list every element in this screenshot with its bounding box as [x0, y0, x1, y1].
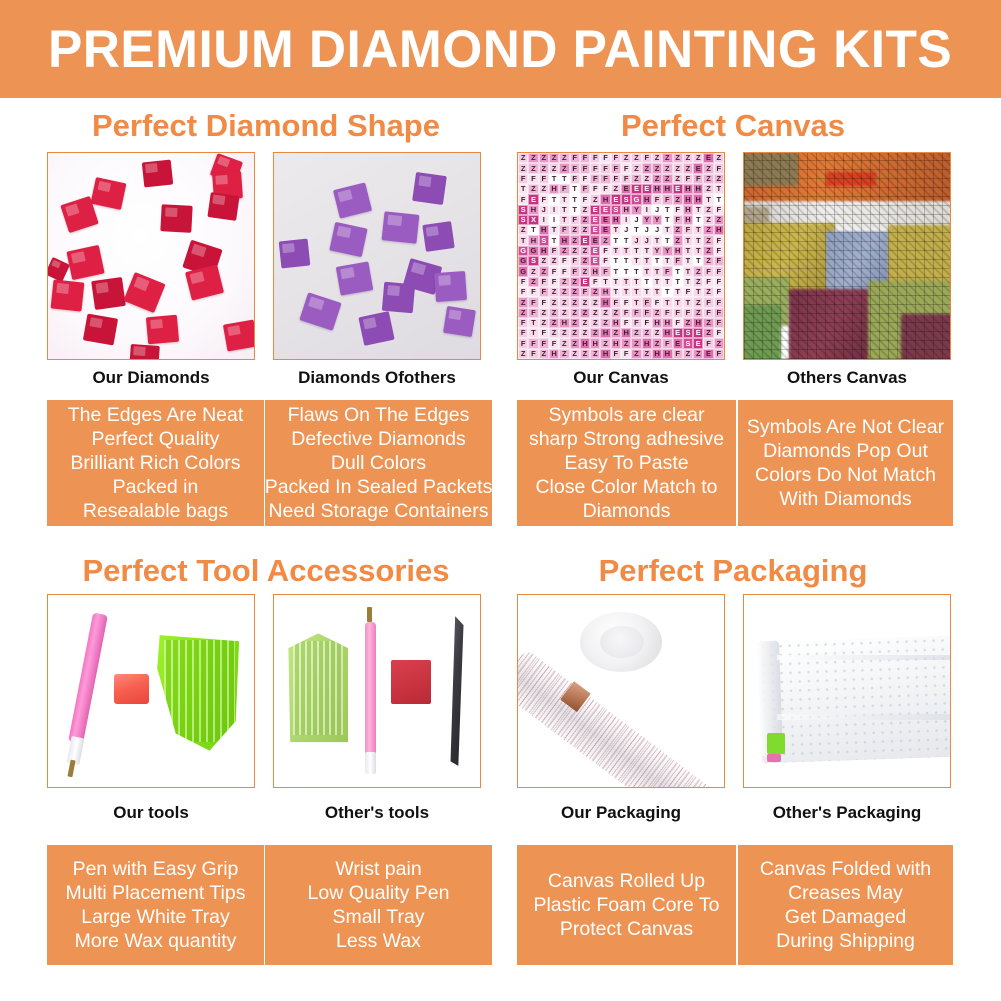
- canvas-symbol-cell: G: [631, 194, 641, 204]
- canvas-symbol-cell: Z: [528, 153, 538, 163]
- canvas-symbol-cell: Z: [528, 266, 538, 276]
- diamond-gem: [185, 265, 224, 301]
- canvas-symbol-cell: F: [528, 308, 538, 318]
- canvas-symbol-cell: Z: [570, 287, 580, 297]
- caption-others-tools: Other's tools: [273, 803, 481, 823]
- canvas-symbol-cell: F: [528, 297, 538, 307]
- canvas-symbol-cell: F: [570, 256, 580, 266]
- canvas-symbol-cell: T: [631, 266, 641, 276]
- canvas-symbol-cell: F: [714, 266, 724, 276]
- canvas-symbol-cell: Y: [631, 205, 641, 215]
- canvas-symbol-cell: T: [693, 215, 703, 225]
- canvas-symbol-cell: Z: [673, 235, 683, 245]
- canvas-symbol-cell: F: [549, 338, 559, 348]
- diamond-gem: [382, 281, 415, 312]
- canvas-symbol-cell: Z: [580, 205, 590, 215]
- canvas-symbol-cell: T: [559, 205, 569, 215]
- canvas-symbol-cell: Z: [580, 349, 590, 359]
- canvas-symbol-cell: Z: [590, 318, 600, 328]
- canvas-symbol-cell: F: [539, 297, 549, 307]
- textbox-our-tools: Pen with Easy Grip Multi Placement Tips …: [47, 845, 264, 965]
- caption-our-tools: Our tools: [47, 803, 255, 823]
- textbox-line: Packed in: [113, 475, 199, 499]
- canvas-symbol-cell: E: [693, 328, 703, 338]
- canvas-symbol-cell: F: [570, 163, 580, 173]
- textbox-others-packaging: Canvas Folded with Creases May Get Damag…: [738, 845, 953, 965]
- canvas-symbol-cell: H: [662, 184, 672, 194]
- caption-our-diamonds: Our Diamonds: [47, 368, 255, 388]
- textbox-line: Diamonds: [583, 499, 671, 523]
- canvas-symbol-cell: Z: [590, 308, 600, 318]
- canvas-symbol-cell: E: [673, 328, 683, 338]
- canvas-symbol-cell: Z: [683, 318, 693, 328]
- canvas-symbol-cell: E: [703, 153, 713, 163]
- canvas-symbol-cell: H: [652, 184, 662, 194]
- textbox-line: Packed In Sealed Packets: [265, 475, 493, 499]
- canvas-symbol-cell: T: [683, 266, 693, 276]
- canvas-symbol-cell: Z: [631, 163, 641, 173]
- canvas-symbol-cell: Z: [652, 174, 662, 184]
- canvas-symbol-cell: H: [683, 194, 693, 204]
- textbox-line: Diamonds Pop Out: [763, 439, 928, 463]
- canvas-symbol-cell: S: [683, 328, 693, 338]
- textbox-line: Close Color Match to: [535, 475, 717, 499]
- canvas-symbol-cell: F: [683, 174, 693, 184]
- canvas-symbol-cell: H: [539, 246, 549, 256]
- canvas-symbol-cell: Z: [621, 338, 631, 348]
- tube-cap-inner: [600, 626, 643, 659]
- canvas-symbol-cell: Z: [580, 266, 590, 276]
- canvas-symbol-cell: Z: [652, 153, 662, 163]
- canvas-symbol-cell: F: [662, 308, 672, 318]
- diamond-tray: [157, 631, 241, 754]
- canvas-symbol-cell: F: [714, 256, 724, 266]
- canvas-symbol-cell: Y: [662, 246, 672, 256]
- canvas-symbol-cell: F: [683, 287, 693, 297]
- canvas-symbol-cell: T: [683, 297, 693, 307]
- canvas-symbol-cell: Z: [662, 163, 672, 173]
- canvas-symbol-cell: F: [703, 308, 713, 318]
- canvas-symbol-cell: F: [539, 277, 549, 287]
- canvas-symbol-cell: E: [703, 349, 713, 359]
- canvas-symbol-cell: F: [621, 349, 631, 359]
- textbox-line: With Diamonds: [779, 487, 911, 511]
- canvas-symbol-cell: T: [662, 256, 672, 266]
- caption-others-packaging: Other's Packaging: [743, 803, 951, 823]
- canvas-symbol-cell: F: [703, 297, 713, 307]
- canvas-symbol-cell: E: [590, 235, 600, 245]
- canvas-symbol-cell: T: [549, 174, 559, 184]
- canvas-symbol-cell: Z: [673, 225, 683, 235]
- canvas-symbol-cell: H: [611, 318, 621, 328]
- canvas-symbol-cell: T: [662, 235, 672, 245]
- canvas-symbol-cell: I: [642, 205, 652, 215]
- canvas-symbol-cell: Z: [714, 153, 724, 163]
- canvas-symbol-cell: T: [673, 297, 683, 307]
- canvas-symbol-cell: S: [683, 338, 693, 348]
- canvas-symbol-cell: F: [600, 256, 610, 266]
- canvas-symbol-cell: T: [559, 194, 569, 204]
- canvas-symbol-cell: F: [714, 277, 724, 287]
- canvas-symbol-cell: E: [642, 184, 652, 194]
- canvas-symbol-cell: T: [570, 194, 580, 204]
- canvas-symbol-cell: T: [683, 277, 693, 287]
- canvas-symbol-cell: T: [642, 266, 652, 276]
- canvas-symbol-cell: T: [662, 225, 672, 235]
- canvas-symbol-cell: T: [693, 246, 703, 256]
- textbox-line: Resealable bags: [83, 499, 228, 523]
- canvas-symbol-cell: F: [570, 174, 580, 184]
- canvas-symbol-cell: H: [693, 194, 703, 204]
- canvas-symbol-cell: Z: [549, 297, 559, 307]
- canvas-symbol-cell: E: [590, 215, 600, 225]
- canvas-symbol-cell: Z: [703, 184, 713, 194]
- canvas-symbol-cell: F: [673, 318, 683, 328]
- canvas-symbol-cell: F: [714, 328, 724, 338]
- canvas-symbol-cell: E: [600, 215, 610, 225]
- canvas-symbol-cell: E: [600, 225, 610, 235]
- canvas-symbol-cell: T: [631, 297, 641, 307]
- canvas-symbol-cell: T: [518, 184, 528, 194]
- canvas-symbol-cell: F: [518, 318, 528, 328]
- canvas-symbol-cell: Z: [580, 308, 590, 318]
- canvas-symbol-cell: F: [714, 318, 724, 328]
- canvas-symbol-cell: T: [611, 287, 621, 297]
- canvas-symbol-cell: Z: [683, 349, 693, 359]
- canvas-symbol-cell: S: [611, 205, 621, 215]
- canvas-symbol-cell: J: [539, 205, 549, 215]
- textbox-others-diamonds: Flaws On The Edges Defective Diamonds Du…: [265, 400, 492, 526]
- canvas-symbol-cell: F: [621, 297, 631, 307]
- canvas-symbol-cell: F: [673, 205, 683, 215]
- diamond-gem: [161, 204, 193, 232]
- canvas-symbol-cell: F: [590, 174, 600, 184]
- canvas-symbol-cell: T: [631, 225, 641, 235]
- canvas-symbol-cell: T: [652, 277, 662, 287]
- canvas-symbol-cell: Z: [673, 153, 683, 163]
- canvas-symbol-cell: T: [621, 287, 631, 297]
- canvas-symbol-cell: T: [703, 194, 713, 204]
- canvas-symbol-cell: F: [611, 163, 621, 173]
- textbox-line: Protect Canvas: [560, 917, 693, 941]
- canvas-symbol-cell: H: [693, 184, 703, 194]
- canvas-symbol-cell: J: [652, 205, 662, 215]
- canvas-symbol-cell: Z: [642, 174, 652, 184]
- textbox-line: Small Tray: [332, 905, 424, 929]
- diamond-gem: [130, 344, 160, 360]
- canvas-symbol-cell: Z: [539, 266, 549, 276]
- textbox-our-packaging: Canvas Rolled Up Plastic Foam Core To Pr…: [517, 845, 736, 965]
- section-title-diamond-shape: Perfect Diamond Shape: [46, 108, 486, 144]
- canvas-symbol-cell: F: [600, 174, 610, 184]
- textbox-line: Colors Do Not Match: [755, 463, 936, 487]
- canvas-symbol-cell: H: [683, 215, 693, 225]
- canvas-symbol-cell: F: [673, 256, 683, 266]
- canvas-symbol-cell: F: [539, 174, 549, 184]
- canvas-symbol-cell: E: [693, 338, 703, 348]
- diamond-gem: [299, 292, 341, 330]
- canvas-symbol-cell: Z: [662, 153, 672, 163]
- pen-needle: [367, 607, 372, 622]
- canvas-symbol-cell: F: [600, 163, 610, 173]
- canvas-symbol-cell: T: [549, 194, 559, 204]
- textbox-line: sharp Strong adhesive: [529, 427, 724, 451]
- others-canvas-scene: [744, 153, 950, 359]
- drill-pen: [69, 613, 109, 744]
- canvas-symbol-cell: Z: [703, 287, 713, 297]
- canvas-symbol-cell: F: [559, 266, 569, 276]
- canvas-symbol-cell: H: [600, 349, 610, 359]
- page-title: PREMIUM DIAMOND PAINTING KITS: [48, 19, 952, 80]
- textbox-line: Canvas Rolled Up: [548, 869, 705, 893]
- diamond-gem: [382, 211, 420, 243]
- pen-tip: [365, 752, 376, 773]
- textbox-line: Pen with Easy Grip: [73, 857, 239, 881]
- canvas-symbol-cell: F: [621, 308, 631, 318]
- diamond-gem: [124, 272, 166, 313]
- canvas-symbol-cell: E: [590, 246, 600, 256]
- diamond-gem: [47, 257, 70, 282]
- canvas-symbol-cell: Z: [631, 153, 641, 163]
- canvas-symbol-cell: Z: [570, 235, 580, 245]
- canvas-symbol-cell: T: [683, 246, 693, 256]
- canvas-symbol-cell: Z: [703, 235, 713, 245]
- wax-square: [391, 660, 430, 704]
- canvas-symbol-cell: Z: [652, 163, 662, 173]
- canvas-symbol-cell: T: [611, 246, 621, 256]
- canvas-symbol-cell: H: [693, 318, 703, 328]
- canvas-symbol-cell: Z: [590, 297, 600, 307]
- canvas-symbol-cell: Z: [580, 328, 590, 338]
- canvas-symbol-cell: E: [611, 194, 621, 204]
- canvas-symbol-cell: F: [518, 338, 528, 348]
- section-title-canvas: Perfect Canvas: [513, 108, 953, 144]
- diamond-gem: [142, 160, 173, 188]
- canvas-symbol-cell: H: [549, 184, 559, 194]
- canvas-symbol-cell: F: [539, 338, 549, 348]
- canvas-symbol-cell: Z: [683, 153, 693, 163]
- canvas-symbol-cell: T: [693, 287, 703, 297]
- canvas-symbol-cell: J: [642, 235, 652, 245]
- canvas-symbol-cell: Z: [714, 338, 724, 348]
- others-packaging-scene: [744, 595, 950, 787]
- canvas-symbol-cell: Z: [549, 287, 559, 297]
- canvas-symbol-cell: F: [580, 153, 590, 163]
- diamond-gem: [329, 222, 367, 257]
- canvas-symbol-cell: Z: [642, 328, 652, 338]
- canvas-symbol-cell: S: [621, 194, 631, 204]
- canvas-symbol-cell: E: [590, 256, 600, 266]
- canvas-symbol-cell: E: [673, 184, 683, 194]
- canvas-symbol-cell: H: [611, 338, 621, 348]
- canvas-symbol-cell: H: [600, 194, 610, 204]
- textbox-line: Canvas Folded with: [760, 857, 931, 881]
- canvas-symbol-cell: Z: [539, 163, 549, 173]
- canvas-symbol-cell: T: [611, 266, 621, 276]
- canvas-symbol-cell: F: [590, 163, 600, 173]
- canvas-symbol-cell: T: [662, 215, 672, 225]
- canvas-symbol-cell: T: [549, 225, 559, 235]
- canvas-symbol-cell: T: [683, 235, 693, 245]
- canvas-symbol-cell: Z: [703, 174, 713, 184]
- canvas-symbol-cell: Z: [714, 174, 724, 184]
- canvas-symbol-cell: H: [714, 225, 724, 235]
- canvas-symbol-cell: Z: [549, 163, 559, 173]
- canvas-symbol-cell: Z: [621, 153, 631, 163]
- canvas-symbol-cell: F: [703, 277, 713, 287]
- textbox-line: Flaws On The Edges: [288, 403, 470, 427]
- mailer-crease: [777, 655, 950, 661]
- canvas-symbol-cell: H: [528, 235, 538, 245]
- canvas-symbol-cell: J: [642, 225, 652, 235]
- canvas-symbol-cell: Z: [549, 328, 559, 338]
- canvas-symbol-cell: T: [662, 277, 672, 287]
- diamond-gem: [223, 319, 255, 351]
- canvas-symbol-cell: Z: [600, 235, 610, 245]
- caption-our-packaging: Our Packaging: [517, 803, 725, 823]
- photo-others-canvas: [743, 152, 951, 360]
- canvas-symbol-cell: F: [528, 287, 538, 297]
- photo-others-tools: [273, 594, 481, 788]
- canvas-symbol-cell: H: [683, 205, 693, 215]
- canvas-symbol-cell: F: [611, 297, 621, 307]
- canvas-symbol-cell: Z: [652, 328, 662, 338]
- canvas-symbol-cell: Z: [652, 308, 662, 318]
- canvas-symbol-cell: Z: [580, 318, 590, 328]
- canvas-symbol-cell: F: [642, 297, 652, 307]
- textbox-line: Wrist pain: [335, 857, 421, 881]
- canvas-symbol-cell: Z: [703, 328, 713, 338]
- tray-ribs: [164, 640, 235, 742]
- caption-others-diamonds: Diamonds Ofothers: [273, 368, 481, 388]
- canvas-symbol-cell: G: [518, 256, 528, 266]
- canvas-symbol-cell: F: [714, 163, 724, 173]
- textbox-line: Large White Tray: [81, 905, 229, 929]
- textbox-line: Easy To Paste: [564, 451, 688, 475]
- canvas-symbol-cell: I: [539, 215, 549, 225]
- canvas-symbol-cell: J: [631, 235, 641, 245]
- canvas-symbol-cell: Z: [549, 318, 559, 328]
- canvas-symbol-cell: Z: [539, 184, 549, 194]
- canvas-symbol-cell: I: [621, 215, 631, 225]
- textbox-line: Symbols Are Not Clear: [747, 415, 944, 439]
- caption-others-canvas: Others Canvas: [743, 368, 951, 388]
- canvas-symbol-cell: T: [693, 235, 703, 245]
- canvas-symbol-cell: T: [528, 328, 538, 338]
- canvas-symbol-cell: F: [662, 266, 672, 276]
- canvas-symbol-cell: T: [549, 235, 559, 245]
- canvas-symbol-cell: E: [580, 277, 590, 287]
- canvas-symbol-cell: F: [590, 184, 600, 194]
- canvas-symbol-cell: T: [631, 287, 641, 297]
- canvas-symbol-cell: F: [662, 194, 672, 204]
- canvas-symbol-cell: F: [580, 163, 590, 173]
- canvas-symbol-cell: F: [611, 174, 621, 184]
- canvas-symbol-cell: H: [683, 184, 693, 194]
- canvas-symbol-cell: F: [662, 338, 672, 348]
- drill-pen: [365, 622, 376, 760]
- canvas-symbol-cell: F: [570, 266, 580, 276]
- canvas-symbol-cell: I: [549, 205, 559, 215]
- canvas-symbol-cell: T: [642, 256, 652, 266]
- canvas-symbol-cell: Z: [559, 308, 569, 318]
- canvas-symbol-cell: Z: [518, 308, 528, 318]
- canvas-symbol-cell: Z: [693, 153, 703, 163]
- diamond-gem: [207, 192, 239, 220]
- canvas-symbol-cell: T: [693, 225, 703, 235]
- canvas-symbol-cell: T: [570, 205, 580, 215]
- textbox-line: Creases May: [788, 881, 903, 905]
- canvas-symbol-cell: Z: [559, 297, 569, 307]
- canvas-symbol-cell: Z: [611, 328, 621, 338]
- canvas-symbol-cell: Z: [631, 338, 641, 348]
- canvas-symbol-cell: Z: [673, 194, 683, 204]
- canvas-symbol-cell: Z: [611, 308, 621, 318]
- canvas-symbol-cell: T: [611, 225, 621, 235]
- canvas-symbol-cell: Z: [580, 225, 590, 235]
- canvas-symbol-cell: Z: [673, 163, 683, 173]
- diamond-gem: [423, 221, 455, 252]
- canvas-symbol-cell: H: [662, 328, 672, 338]
- textbox-line: Plastic Foam Core To: [533, 893, 719, 917]
- canvas-symbol-cell: F: [600, 184, 610, 194]
- canvas-symbol-cell: T: [673, 277, 683, 287]
- canvas-symbol-cell: Z: [528, 163, 538, 173]
- canvas-symbol-cell: Z: [703, 318, 713, 328]
- canvas-symbol-cell: T: [673, 266, 683, 276]
- canvas-symbol-cell: Z: [559, 277, 569, 287]
- canvas-symbol-cell: T: [611, 256, 621, 266]
- canvas-symbol-cell: F: [631, 318, 641, 328]
- canvas-symbol-cell: Z: [549, 308, 559, 318]
- canvas-symbol-cell: T: [611, 235, 621, 245]
- canvas-symbol-cell: Z: [549, 256, 559, 266]
- canvas-symbol-cell: T: [652, 266, 662, 276]
- canvas-symbol-cell: F: [539, 194, 549, 204]
- infographic-page: PREMIUM DIAMOND PAINTING KITS Perfect Di…: [0, 0, 1001, 1001]
- canvas-symbol-cell: Z: [600, 338, 610, 348]
- canvas-symbol-cell: F: [528, 349, 538, 359]
- canvas-symbol-cell: F: [673, 349, 683, 359]
- textbox-line: Less Wax: [336, 929, 421, 953]
- canvas-symbol-cell: J: [652, 225, 662, 235]
- diamond-gem: [358, 311, 394, 346]
- canvas-symbol-cell: T: [714, 194, 724, 204]
- canvas-symbol-cell: F: [590, 277, 600, 287]
- canvas-symbol-cell: H: [673, 246, 683, 256]
- canvas-symbol-cell: Z: [600, 308, 610, 318]
- canvas-symbol-cell: Z: [559, 287, 569, 297]
- canvas-symbol-cell: F: [611, 349, 621, 359]
- canvas-symbol-cell: F: [673, 215, 683, 225]
- canvas-symbol-cell: Y: [652, 215, 662, 225]
- our-diamonds-scene: [48, 153, 254, 359]
- canvas-symbol-cell: F: [642, 308, 652, 318]
- canvas-symbol-cell: T: [693, 205, 703, 215]
- canvas-symbol-cell: Z: [642, 349, 652, 359]
- canvas-symbol-cell: F: [714, 349, 724, 359]
- canvas-symbol-cell: Z: [539, 256, 549, 266]
- textbox-line: Symbols are clear: [548, 403, 704, 427]
- canvas-symbol-cell: F: [539, 287, 549, 297]
- canvas-symbol-cell: F: [518, 194, 528, 204]
- canvas-symbol-cell: Z: [703, 246, 713, 256]
- canvas-symbol-cell: F: [642, 153, 652, 163]
- canvas-symbol-cell: Z: [518, 297, 528, 307]
- canvas-symbol-cell: F: [621, 163, 631, 173]
- canvas-symbol-cell: Z: [703, 215, 713, 225]
- canvas-symbol-cell: Z: [539, 153, 549, 163]
